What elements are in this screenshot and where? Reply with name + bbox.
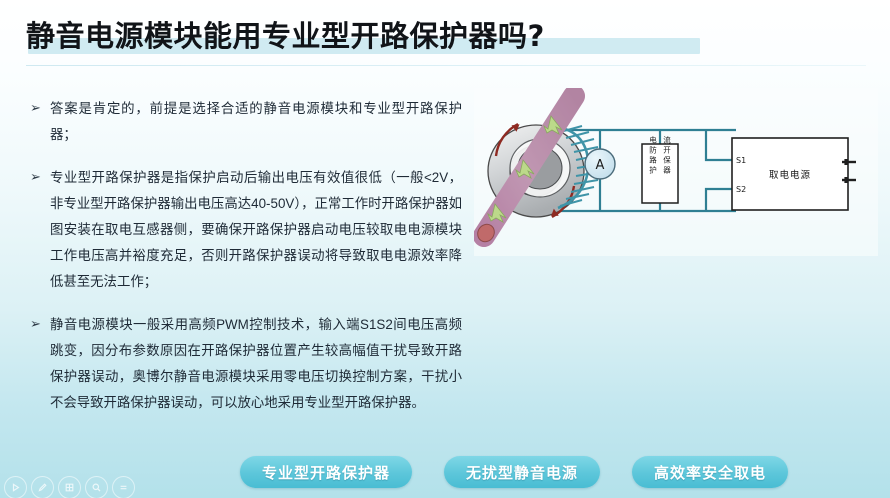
- menu-icon[interactable]: [112, 476, 135, 498]
- keyword-pill-group: 专业型开路保护器 无扰型静音电源 高效率安全取电: [240, 456, 788, 488]
- power-supply-label: 取电电源: [769, 169, 811, 181]
- list-item: ➢ 专业型开路保护器是指保护启动后输出电压有效值很低（一般<2V，非专业型开路保…: [30, 165, 462, 295]
- arrow-bullet-icon: ➢: [30, 312, 50, 338]
- page-title-wrapper: 静音电源模块能用专业型开路保护器吗?: [26, 14, 545, 58]
- grid-icon[interactable]: [58, 476, 81, 498]
- terminal-s2-label: S2: [736, 185, 746, 194]
- circuit-diagram: A 电防路护 流开保器 取电电源 S1 S2: [474, 88, 878, 256]
- terminal-s1-label: S1: [736, 156, 746, 165]
- ammeter-icon: A: [585, 149, 615, 179]
- protector-box: 电防路护 流开保器: [642, 134, 678, 203]
- title-divider: [26, 65, 866, 66]
- diagram-svg: A 电防路护 流开保器 取电电源 S1 S2: [474, 88, 878, 256]
- arrow-bullet-icon: ➢: [30, 165, 50, 191]
- list-item-text: 答案是肯定的，前提是选择合适的静音电源模块和专业型开路保护器；: [50, 96, 462, 148]
- pill-button-silent-power[interactable]: 无扰型静音电源: [444, 456, 600, 488]
- page-title: 静音电源模块能用专业型开路保护器吗?: [26, 14, 545, 58]
- list-item: ➢ 答案是肯定的，前提是选择合适的静音电源模块和专业型开路保护器；: [30, 96, 462, 148]
- pill-button-safe-harvesting[interactable]: 高效率安全取电: [632, 456, 788, 488]
- list-item: ➢ 静音电源模块一般采用高频PWM控制技术，输入端S1S2间电压高频跳变，因分布…: [30, 312, 462, 416]
- body-text-column: ➢ 答案是肯定的，前提是选择合适的静音电源模块和专业型开路保护器； ➢ 专业型开…: [30, 96, 462, 433]
- magnifier-icon[interactable]: [85, 476, 108, 498]
- play-icon[interactable]: [4, 476, 27, 498]
- protector-label-col2: 流开保器: [662, 134, 671, 176]
- protector-label-col1: 电防路护: [648, 134, 657, 176]
- ammeter-label: A: [596, 158, 605, 173]
- list-item-text: 静音电源模块一般采用高频PWM控制技术，输入端S1S2间电压高频跳变，因分布参数…: [50, 312, 462, 416]
- arrow-bullet-icon: ➢: [30, 96, 50, 122]
- pen-icon[interactable]: [31, 476, 54, 498]
- list-item-text: 专业型开路保护器是指保护启动后输出电压有效值很低（一般<2V，非专业型开路保护器…: [50, 165, 462, 295]
- bottom-toolbar: [4, 476, 135, 498]
- power-supply-box: 取电电源 S1 S2: [732, 138, 856, 210]
- pill-button-open-circuit-protector[interactable]: 专业型开路保护器: [240, 456, 412, 488]
- slide-root: 静音电源模块能用专业型开路保护器吗? ➢ 答案是肯定的，前提是选择合适的静音电源…: [0, 0, 890, 498]
